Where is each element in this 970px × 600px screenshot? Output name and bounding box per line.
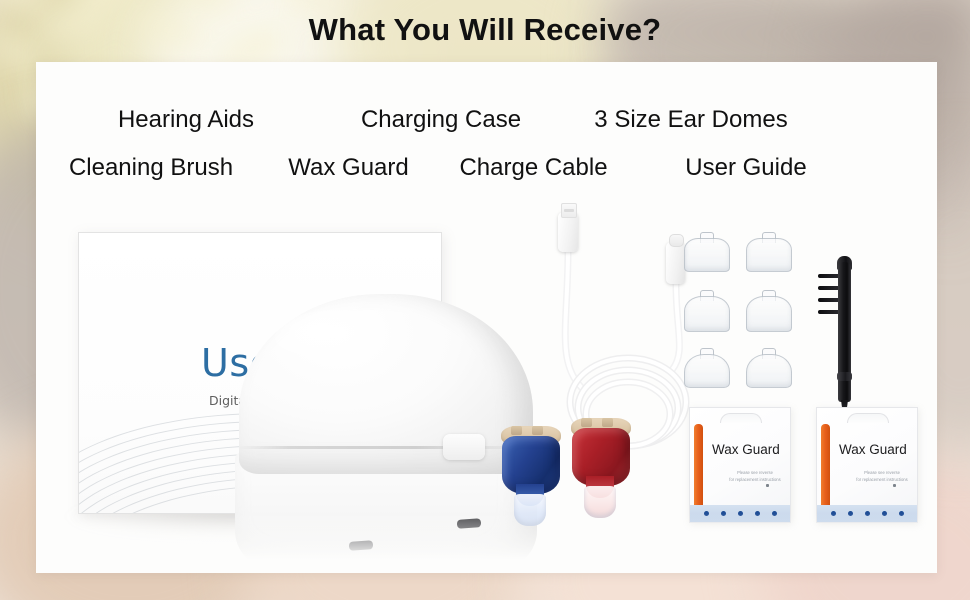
packet-orange-strip	[694, 424, 703, 516]
ear-dome-small	[746, 232, 790, 272]
brush-bristle	[818, 310, 840, 314]
item-label-cleaning-brush: Cleaning Brush	[36, 154, 266, 182]
packet-marker-dot	[766, 484, 769, 487]
hearing-aid-dome	[584, 486, 616, 518]
brush-bristle	[818, 298, 840, 302]
brush-bristle	[818, 286, 840, 290]
cleaning-brush	[814, 252, 874, 432]
brush-joint	[837, 372, 852, 381]
packet-title: Wax Guard	[839, 442, 907, 457]
item-label-ear-domes: 3 Size Ear Domes	[546, 106, 836, 134]
wax-guard-packet: Wax Guard Please see reverse for replace…	[816, 407, 918, 523]
packet-note: Please see reverse for replacement instr…	[851, 470, 913, 483]
content-panel: Hearing Aids Charging Case 3 Size Ear Do…	[36, 62, 937, 573]
brush-handle	[838, 262, 851, 402]
ear-dome-small	[684, 232, 728, 272]
hearing-aid-left-blue	[502, 422, 564, 526]
packet-title: Wax Guard	[712, 442, 780, 457]
ear-domes-grid	[684, 232, 804, 392]
item-label-wax-guard: Wax Guard	[266, 154, 431, 182]
packet-hang-hole	[720, 413, 762, 423]
item-label-hearing-aids: Hearing Aids	[36, 106, 336, 134]
item-label-charging-case: Charging Case	[336, 106, 546, 134]
charging-case-seam	[237, 446, 535, 449]
charging-case-latch	[443, 434, 485, 460]
ear-dome-large	[746, 348, 790, 388]
charging-case-highlight	[275, 310, 395, 366]
packet-marker-dot	[893, 484, 896, 487]
packet-note-line2: for replacement instructions	[724, 477, 786, 484]
ear-dome-medium	[746, 290, 790, 330]
charging-case-indicator-slot	[349, 540, 374, 551]
item-label-user-guide: User Guide	[636, 154, 856, 182]
item-label-row-2: Cleaning Brush Wax Guard Charge Cable Us…	[36, 154, 937, 182]
hearing-aid-dome	[514, 494, 546, 526]
packet-note: Please see reverse for replacement instr…	[724, 470, 786, 483]
page-title: What You Will Receive?	[0, 12, 970, 48]
packet-note-line2: for replacement instructions	[851, 477, 913, 484]
usb-a-connector	[558, 212, 578, 252]
ear-dome-medium	[684, 290, 728, 330]
packet-hang-hole	[847, 413, 889, 423]
brush-bristle	[818, 274, 840, 278]
charging-case-indicator-slot	[457, 518, 482, 529]
wax-guard-packet: Wax Guard Please see reverse for replace…	[689, 407, 791, 523]
item-label-charge-cable: Charge Cable	[431, 154, 636, 182]
item-label-row-1: Hearing Aids Charging Case 3 Size Ear Do…	[36, 106, 937, 134]
ear-dome-large	[684, 348, 728, 388]
usb-c-connector	[666, 242, 685, 284]
hearing-aid-right-red	[572, 414, 634, 518]
packet-bottom-band	[690, 505, 790, 522]
packet-bottom-band	[817, 505, 917, 522]
packet-orange-strip	[821, 424, 830, 516]
